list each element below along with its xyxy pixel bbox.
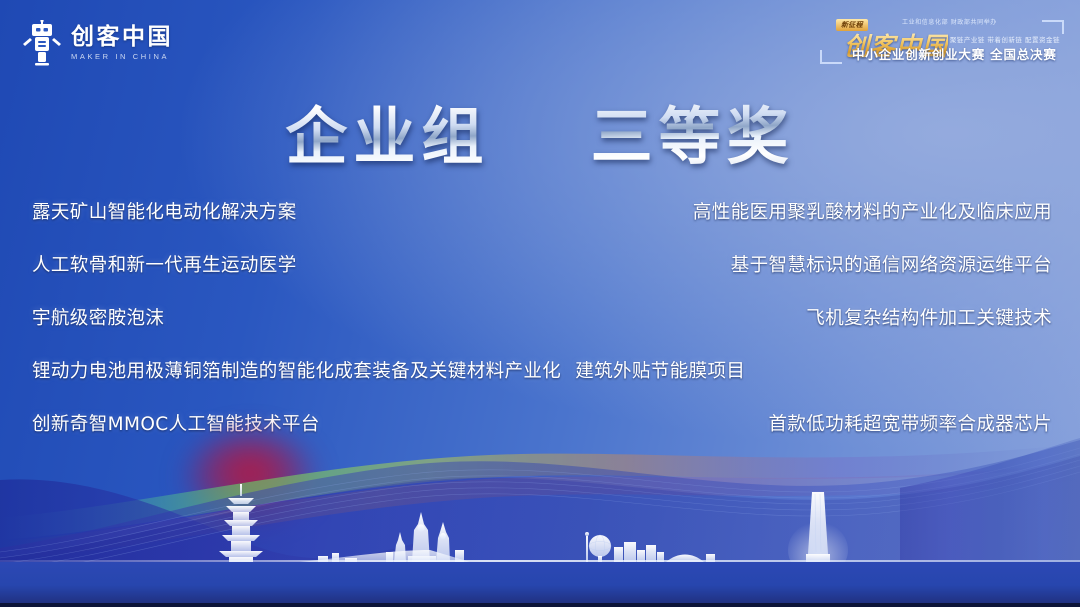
page-title: 企业组 三等奖	[0, 86, 1080, 176]
award-slide: 创客中国 MAKER IN CHINA 新征程 工业和信息化部 财政部共同举办 …	[0, 0, 1080, 607]
entry-row: 锂动力电池用极薄铜箔制造的智能化成套装备及关键材料产业化 建筑外贴节能膜项目	[0, 355, 1080, 385]
entry-row: 宇航级密胺泡沫 飞机复杂结构件加工关键技术	[0, 302, 1080, 332]
entry-right: 飞机复杂结构件加工关键技术	[636, 304, 1080, 330]
title-group: 企业组	[285, 100, 489, 173]
badge-tagline: 聚链产业链 带着创新链 配置资金链	[950, 34, 1060, 44]
title-award: 三等奖	[591, 100, 795, 173]
bracket-top-right	[1042, 20, 1064, 34]
entry-left: 宇航级密胺泡沫	[0, 304, 636, 330]
entry-row: 人工软骨和新一代再生运动医学 基于智慧标识的通信网络资源运维平台	[0, 249, 1080, 279]
competition-badge: 新征程 工业和信息化部 财政部共同举办 创客中国 聚链产业链 带着创新链 配置资…	[818, 10, 1066, 72]
maker-robot-icon	[22, 20, 62, 66]
badge-organizer-text: 工业和信息化部 财政部共同举办	[902, 17, 997, 26]
bracket-bottom-left	[820, 50, 842, 64]
badge-subtitle: 中小企业创新创业大赛 全国总决赛	[852, 44, 1057, 63]
entry-left: 露天矿山智能化电动化解决方案	[0, 198, 636, 224]
entry-right: 基于智慧标识的通信网络资源运维平台	[636, 251, 1080, 277]
entry-row: 露天矿山智能化电动化解决方案 高性能医用聚乳酸材料的产业化及临床应用	[0, 196, 1080, 226]
entry-right: 建筑外贴节能膜项目	[561, 357, 1080, 383]
award-entries-list: 露天矿山智能化电动化解决方案 高性能医用聚乳酸材料的产业化及临床应用 人工软骨和…	[0, 196, 1080, 440]
maker-in-china-logo: 创客中国 MAKER IN CHINA	[22, 18, 173, 68]
bottom-edge	[0, 603, 1080, 607]
bottom-band	[0, 562, 1080, 604]
logo-name-cn: 创客中国	[71, 25, 173, 49]
entry-left: 锂动力电池用极薄铜箔制造的智能化成套装备及关键材料产业化	[0, 357, 561, 383]
logo-name-en: MAKER IN CHINA	[71, 52, 173, 61]
entry-left: 人工软骨和新一代再生运动医学	[0, 251, 636, 277]
entry-right: 高性能医用聚乳酸材料的产业化及临床应用	[636, 198, 1080, 224]
